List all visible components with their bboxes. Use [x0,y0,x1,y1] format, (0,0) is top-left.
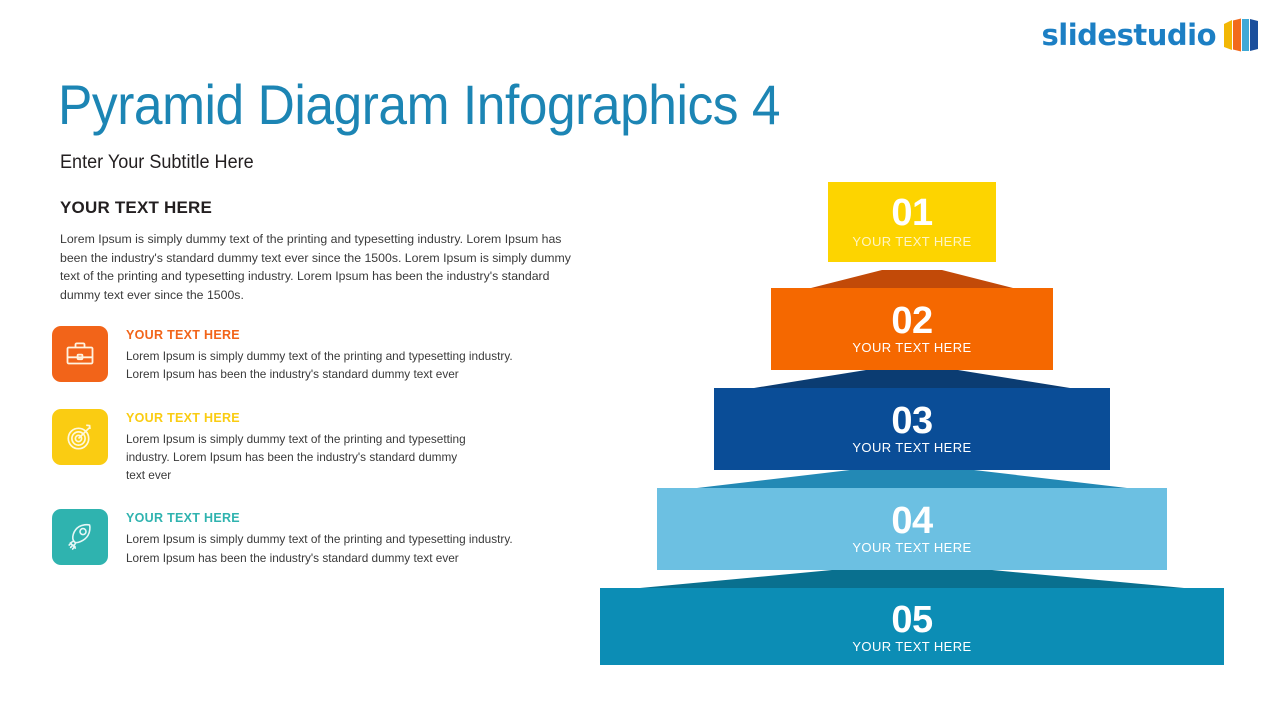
rocket-icon [64,521,96,553]
level-03-top-face [754,370,1070,388]
rocket-icon-tile [52,509,108,565]
level-05-top-face [640,570,1184,588]
target-icon [64,421,96,453]
feature-item-2[interactable]: YOUR TEXT HERE Lorem Ipsum is simply dum… [52,409,582,485]
level-03-caption: YOUR TEXT HERE [852,440,971,455]
intro-heading: YOUR TEXT HERE [60,198,580,218]
briefcase-icon-tile [52,326,108,382]
pyramid-diagram: 05 YOUR TEXT HERE 04 YOUR TEXT HERE 03 Y… [560,170,1260,690]
feature-title-1: YOUR TEXT HERE [126,328,516,342]
feature-title-2: YOUR TEXT HERE [126,411,471,425]
level-03-number: 03 [891,400,932,442]
level-04-top-face [697,470,1127,488]
level-04-caption: YOUR TEXT HERE [852,540,971,555]
brand-logo: slidestudio [1042,18,1262,52]
pyramid-level-02[interactable]: 02 YOUR TEXT HERE [771,270,1053,370]
pyramid-level-01[interactable]: 01 YOUR TEXT HERE [828,182,996,262]
intro-paragraph: Lorem Ipsum is simply dummy text of the … [60,230,575,305]
feature-title-3: YOUR TEXT HERE [126,511,516,525]
level-01-caption: YOUR TEXT HERE [852,234,971,249]
feature-body-2: Lorem Ipsum is simply dummy text of the … [126,430,471,485]
briefcase-icon [64,338,96,370]
feature-body-3: Lorem Ipsum is simply dummy text of the … [126,530,516,567]
target-icon-tile [52,409,108,465]
level-02-top-face [811,270,1013,288]
feature-item-1[interactable]: YOUR TEXT HERE Lorem Ipsum is simply dum… [52,326,582,384]
level-02-caption: YOUR TEXT HERE [852,340,971,355]
intro-block: YOUR TEXT HERE Lorem Ipsum is simply dum… [60,198,580,305]
level-05-caption: YOUR TEXT HERE [852,639,971,654]
page-title: Pyramid Diagram Infographics 4 [58,76,780,135]
page-subtitle: Enter Your Subtitle Here [60,152,254,174]
feature-list: YOUR TEXT HERE Lorem Ipsum is simply dum… [52,326,582,592]
brand-wordmark: slidestudio [1042,21,1216,50]
level-05-number: 05 [891,599,933,641]
feature-item-3[interactable]: YOUR TEXT HERE Lorem Ipsum is simply dum… [52,509,582,567]
pyramid-level-03[interactable]: 03 YOUR TEXT HERE [714,370,1110,470]
brand-mark-icon [1222,18,1262,52]
level-04-number: 04 [891,500,933,542]
level-01-number: 01 [891,192,933,234]
feature-body-1: Lorem Ipsum is simply dummy text of the … [126,347,516,384]
pyramid-level-05[interactable]: 05 YOUR TEXT HERE [600,570,1224,665]
level-02-number: 02 [891,300,932,342]
pyramid-level-04[interactable]: 04 YOUR TEXT HERE [657,470,1167,570]
